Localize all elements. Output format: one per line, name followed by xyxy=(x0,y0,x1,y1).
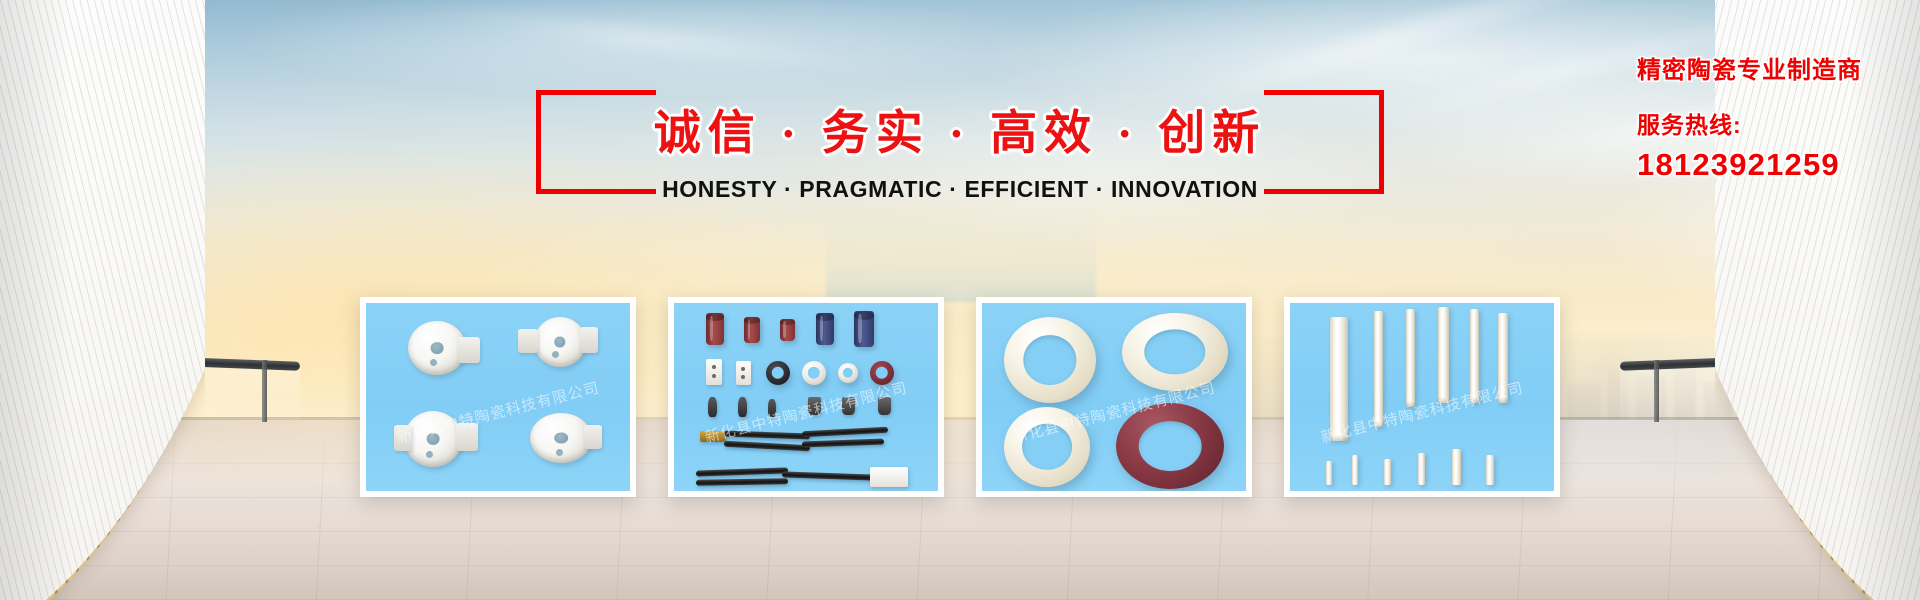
rod-tip xyxy=(1374,421,1383,427)
product-panel-row: 新化县中特陶瓷科技有限公司 xyxy=(0,297,1920,497)
ceramic-chip xyxy=(706,359,722,385)
black-wire xyxy=(724,441,810,451)
black-wire xyxy=(802,427,888,437)
promo-banner: 诚信 · 务实 · 高效 · 创新 HONESTY · PRAGMATIC · … xyxy=(0,0,1920,600)
ceramic-rod xyxy=(1498,313,1508,403)
ceramic-ring-ivory xyxy=(1004,317,1096,403)
panel-image-area: 新化县中特陶瓷科技有限公司 xyxy=(674,303,938,491)
bracket-left-icon xyxy=(536,90,656,194)
rod-tip xyxy=(1438,397,1449,403)
ceramic-tube-blue xyxy=(816,313,834,345)
holder-tab xyxy=(580,327,598,353)
ceramic-rod-small xyxy=(1486,455,1494,485)
ceramic-ring-maroon xyxy=(1116,403,1224,489)
o-ring-white xyxy=(802,361,826,385)
metal-blade xyxy=(842,397,855,415)
black-wire xyxy=(782,471,874,480)
holder-tab xyxy=(458,337,480,363)
slogan-chinese: 诚信 · 务实 · 高效 · 创新 xyxy=(654,94,1267,163)
headline-block: 诚信 · 务实 · 高效 · 创新 HONESTY · PRAGMATIC · … xyxy=(0,96,1920,203)
slogan-row: 诚信 · 务实 · 高效 · 创新 xyxy=(560,96,1360,160)
metal-blade xyxy=(708,397,717,417)
hotline-phone[interactable]: 18123921259 xyxy=(1637,147,1862,183)
ceramic-lamp-holder xyxy=(530,413,592,463)
panel-image-area: 新化县中特陶瓷科技有限公司 xyxy=(982,303,1246,491)
holder-tab xyxy=(456,423,478,451)
product-panel-ceramic-rods[interactable]: 新化县中特陶瓷科技有限公司 xyxy=(1284,297,1560,497)
hotline-label: 服务热线: xyxy=(1637,106,1862,140)
ceramic-rod xyxy=(1438,307,1449,403)
ceramic-ring-ivory xyxy=(1004,407,1090,487)
black-wire xyxy=(802,439,884,448)
ceramic-lamp-holder xyxy=(534,317,586,367)
holder-hole xyxy=(430,359,437,366)
holder-hole xyxy=(426,451,433,458)
ceramic-tube-blue xyxy=(854,311,874,347)
ceramic-rod-small xyxy=(1418,453,1425,485)
bracket-right-icon xyxy=(1264,90,1384,194)
chip-hole xyxy=(741,375,745,379)
metal-blade xyxy=(768,399,776,417)
holder-tab xyxy=(394,425,412,451)
contact-block: 精密陶瓷专业制造商 服务热线: 18123921259 xyxy=(1637,50,1862,183)
metal-blade xyxy=(878,397,891,415)
ceramic-tube-red xyxy=(706,313,724,345)
chip-hole xyxy=(712,374,716,378)
ceramic-ring-ivory xyxy=(1122,313,1228,391)
ceramic-rod xyxy=(1330,317,1348,441)
wire-terminal-gold xyxy=(700,431,726,442)
panel-image-area: 新化县中特陶瓷科技有限公司 xyxy=(366,303,630,491)
metal-blade xyxy=(738,397,747,417)
rod-tip xyxy=(1406,401,1415,407)
black-wire xyxy=(696,467,788,476)
ceramic-rod-small xyxy=(1452,449,1461,485)
ceramic-rod-small xyxy=(1326,461,1332,485)
chip-hole xyxy=(741,367,745,371)
holder-hole xyxy=(556,449,563,456)
ceramic-rod-small xyxy=(1352,455,1358,485)
o-ring-white xyxy=(838,363,858,383)
holder-hole xyxy=(552,351,559,358)
chip-hole xyxy=(712,365,716,369)
product-panel-ceramic-lamp-holders[interactable]: 新化县中特陶瓷科技有限公司 xyxy=(360,297,636,497)
manufacturer-tagline: 精密陶瓷专业制造商 xyxy=(1637,50,1862,85)
black-wire xyxy=(696,478,788,486)
rod-tip xyxy=(1330,435,1348,441)
slogan-english: HONESTY · PRAGMATIC · EFFICIENT · INNOVA… xyxy=(662,176,1258,203)
holder-tab xyxy=(584,425,602,449)
ceramic-rod-small xyxy=(1384,459,1391,485)
ceramic-tube-red xyxy=(744,317,760,343)
black-wire xyxy=(724,431,810,440)
holder-tab xyxy=(518,329,538,353)
panel-watermark: 新化县中特陶瓷科技有限公司 xyxy=(1319,377,1526,448)
panel-image-area: 新化县中特陶瓷科技有限公司 xyxy=(1290,303,1554,491)
ceramic-lamp-holder xyxy=(404,411,462,467)
rod-tip xyxy=(1498,397,1508,403)
ceramic-tube-red xyxy=(780,319,795,341)
product-panel-ceramic-rings[interactable]: 新化县中特陶瓷科技有限公司 xyxy=(976,297,1252,497)
ceramic-rod xyxy=(1374,311,1383,427)
product-panel-tubes-rings-wires[interactable]: 新化县中特陶瓷科技有限公司 xyxy=(668,297,944,497)
ceramic-rod xyxy=(1470,309,1479,403)
o-ring-maroon xyxy=(870,361,894,385)
ceramic-rod xyxy=(1406,309,1415,407)
rod-tip xyxy=(1470,397,1479,403)
wire-connector-white xyxy=(870,467,908,487)
metal-blade xyxy=(808,397,821,415)
ceramic-chip xyxy=(736,361,751,385)
o-ring-dark xyxy=(766,361,790,385)
